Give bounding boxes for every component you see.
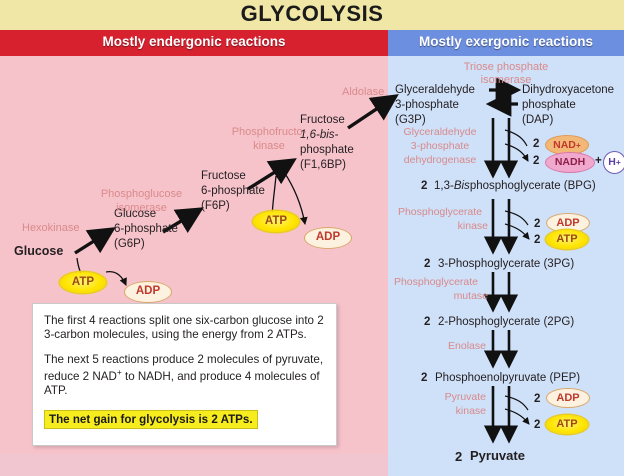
note-paragraph-1: The first 4 reactions split one six-carb… — [44, 314, 325, 342]
enzyme-gapdh-line2: 3-phosphate — [393, 141, 487, 153]
enzyme-phosphoglucose-isomerase-line1: Phosphoglucose — [89, 188, 194, 200]
metabolite-3pg: 3-Phosphoglycerate (3PG) — [438, 258, 574, 271]
cofactor-proton-label: H — [608, 157, 616, 168]
enzyme-gapdh-line3: dehydrogenase — [393, 155, 487, 167]
metabolite-g6p-line3: (G6P) — [114, 238, 145, 251]
metabolite-dap-line1: Dihydroxyacetone — [522, 84, 614, 97]
cofactor-adp-2: ADP — [304, 227, 352, 249]
metabolite-f16bp-line3: phosphate — [300, 144, 354, 157]
enzyme-aldolase: Aldolase — [342, 86, 384, 98]
enzyme-enolase: Enolase — [424, 341, 486, 353]
metabolite-f6p-line3: (F6P) — [201, 200, 230, 213]
enzyme-pgk-line2: kinase — [392, 221, 488, 233]
title-band: GLYCOLYSIS — [0, 0, 624, 30]
cofactor-proton: H+ — [603, 151, 624, 174]
summary-note-box: The first 4 reactions split one six-carb… — [32, 303, 337, 446]
enzyme-pyruvate-kinase-line1: Pyruvate — [406, 392, 486, 404]
metabolite-g3p-line2: 3-phosphate — [395, 99, 459, 112]
cofactor-adp-1: ADP — [124, 281, 172, 303]
enzyme-pgm-line2: mutase — [384, 291, 488, 303]
plus-sign-proton: + — [595, 155, 602, 167]
cofactor-atp-2: ATP — [253, 211, 299, 232]
enzyme-phosphoglucose-isomerase-line2: isomerase — [89, 202, 194, 214]
enzyme-pgm-line1: Phosphoglycerate — [384, 277, 488, 289]
header-endergonic-label: Mostly endergonic reactions — [0, 34, 388, 49]
coefficient-atp-4: 2 — [534, 419, 540, 431]
page-title: GLYCOLYSIS — [0, 1, 624, 27]
enzyme-hexokinase: Hexokinase — [22, 222, 79, 234]
coefficient-2pg: 2 — [424, 316, 430, 328]
metabolite-f16bp-line4: (F1,6BP) — [300, 159, 346, 172]
metabolite-f16bp-line1: Fructose — [300, 114, 345, 127]
cofactor-atp-1: ATP — [60, 272, 106, 293]
cofactor-proton-sup: + — [616, 158, 621, 167]
cofactor-atp-3: ATP — [546, 230, 588, 249]
metabolite-bpg: 1,3-Bisphosphoglycerate (BPG) — [434, 180, 596, 193]
coefficient-pep: 2 — [421, 372, 427, 384]
metabolite-bpg-italic: Bis — [454, 180, 470, 192]
coefficient-nad: 2 — [533, 138, 539, 150]
metabolite-f6p-line2: 6-phosphate — [201, 185, 265, 198]
cofactor-nad-sup: + — [576, 141, 581, 150]
enzyme-gapdh-line1: Glyceraldehyde — [393, 127, 487, 139]
metabolite-g3p-line3: (G3P) — [395, 114, 426, 127]
enzyme-triose-phosphate-isomerase-line1: Triose phosphate — [406, 61, 606, 73]
coefficient-nadh: 2 — [533, 155, 539, 167]
coefficient-bpg: 2 — [421, 180, 427, 192]
cofactor-nad-label: NAD — [553, 140, 576, 151]
cofactor-adp-4: ADP — [546, 388, 590, 408]
coefficient-adp-4: 2 — [534, 393, 540, 405]
cofactor-nadh: NADH — [545, 152, 595, 173]
metabolite-2pg: 2-Phosphoglycerate (2PG) — [438, 316, 574, 329]
metabolite-glucose: Glucose — [14, 244, 63, 258]
coefficient-3pg: 2 — [424, 258, 430, 270]
enzyme-pgk-line1: Phosphoglycerate — [392, 207, 488, 219]
note-highlight: The net gain for glycolysis is 2 ATPs. — [44, 410, 258, 429]
metabolite-f16bp-line2: 1,6-bis- — [300, 129, 338, 142]
metabolite-g3p-line1: Glyceraldehyde — [395, 84, 475, 97]
header-endergonic: Mostly endergonic reactions — [0, 30, 388, 56]
metabolite-dap-line3: (DAP) — [522, 114, 553, 127]
coefficient-pyruvate: 2 — [455, 449, 462, 464]
header-exergonic: Mostly exergonic reactions — [388, 30, 624, 56]
header-exergonic-label: Mostly exergonic reactions — [388, 34, 624, 49]
note-paragraph-2: The next 5 reactions produce 2 molecules… — [44, 353, 325, 398]
cofactor-atp-4: ATP — [546, 415, 588, 434]
metabolite-pyruvate: Pyruvate — [470, 449, 525, 464]
coefficient-adp-3: 2 — [534, 218, 540, 230]
bottom-band — [0, 454, 388, 476]
metabolite-dap-line2: phosphate — [522, 99, 576, 112]
coefficient-atp-3: 2 — [534, 234, 540, 246]
metabolite-g6p-line2: 6-phosphate — [114, 223, 178, 236]
glycolysis-diagram: GLYCOLYSIS Mostly endergonic reactions M… — [0, 0, 624, 476]
metabolite-pep: Phosphoenolpyruvate (PEP) — [435, 372, 580, 385]
metabolite-f6p-line1: Fructose — [201, 170, 246, 183]
enzyme-pyruvate-kinase-line2: kinase — [406, 406, 486, 418]
